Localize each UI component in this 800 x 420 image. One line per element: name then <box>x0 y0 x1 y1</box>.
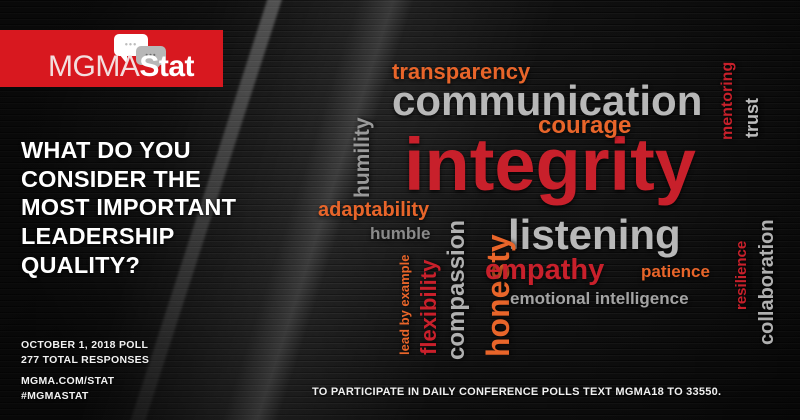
wordcloud-word: patience <box>641 263 710 280</box>
poll-date: OCTOBER 1, 2018 POLL <box>21 338 149 353</box>
website-link[interactable]: MGMA.COM/STAT <box>21 374 114 389</box>
wordcloud-word: flexibility <box>418 260 440 355</box>
headline-line-2: CONSIDER THE <box>21 165 283 194</box>
wordcloud-word: emotional intelligence <box>510 290 689 307</box>
hashtag: #MGMASTAT <box>21 389 114 404</box>
total-responses: 277 TOTAL RESPONSES <box>21 353 149 368</box>
wordcloud-word: compassion <box>445 220 469 360</box>
wordcloud-word: empathy <box>485 256 604 285</box>
infographic-canvas: ••• ••• MGMAStat WHAT DO YOU CONSIDER TH… <box>0 0 800 420</box>
wordcloud-word: collaboration <box>757 219 777 345</box>
mgma-stat-logo: ••• ••• MGMAStat <box>0 30 223 87</box>
wordcloud-word: mentoring <box>720 62 736 140</box>
wordcloud-word: listening <box>508 214 681 256</box>
word-cloud: integritycommunicationlisteninghonestyem… <box>300 0 800 420</box>
wordcloud-word: adaptability <box>318 200 429 220</box>
headline-line-1: WHAT DO YOU <box>21 136 283 165</box>
logo-wordmark: MGMAStat <box>48 52 194 82</box>
wordcloud-word: transparency <box>392 61 530 83</box>
wordcloud-word: resilience <box>734 241 749 310</box>
poll-meta: OCTOBER 1, 2018 POLL 277 TOTAL RESPONSES <box>21 338 149 368</box>
logo-stat-text: Stat <box>139 50 194 83</box>
wordcloud-word: humble <box>370 225 430 242</box>
headline-line-5: QUALITY? <box>21 251 283 280</box>
wordcloud-word: trust <box>743 98 761 138</box>
headline-line-4: LEADERSHIP <box>21 222 283 251</box>
page-title: WHAT DO YOU CONSIDER THE MOST IMPORTANT … <box>21 136 283 279</box>
wordcloud-word: integrity <box>404 128 696 202</box>
headline-line-3: MOST IMPORTANT <box>21 193 283 222</box>
wordcloud-word: lead by example <box>398 255 411 355</box>
wordcloud-word: courage <box>538 114 631 138</box>
wordcloud-word: humility <box>352 117 373 198</box>
poll-links: MGMA.COM/STAT #MGMASTAT <box>21 374 114 404</box>
logo-mgma-text: MGMA <box>48 50 139 83</box>
